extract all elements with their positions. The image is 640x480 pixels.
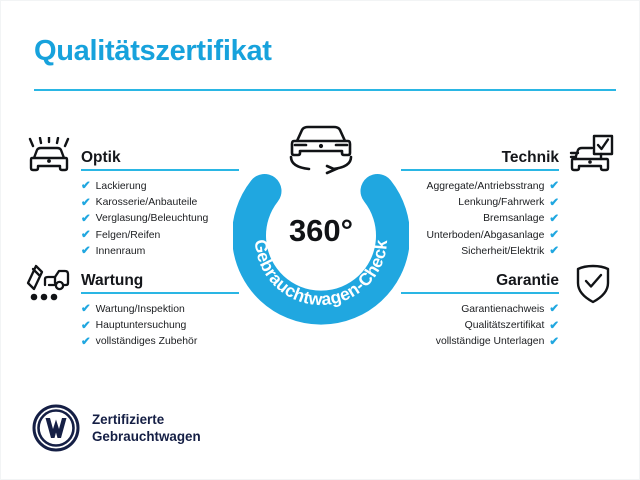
- list-item: ✔vollständiges Zubehör: [81, 334, 239, 350]
- check-icon: ✔: [81, 337, 91, 349]
- list-item: ✔Innenraum: [81, 244, 239, 260]
- section-divider: [401, 169, 559, 171]
- list-item-label: Garantienachweis: [461, 302, 544, 318]
- check-icon: ✔: [81, 198, 91, 210]
- section-wartung: Wartung ✔Wartung/Inspektion ✔Hauptunters…: [81, 264, 239, 351]
- list-item: Aggregate/Antriebsstrang✔: [401, 179, 559, 195]
- list-item-label: Lackierung: [96, 179, 147, 195]
- footer-line-1: Zertifizierte: [92, 411, 201, 428]
- list-item: Unterboden/Abgasanlage✔: [401, 228, 559, 244]
- list-item-label: vollständiges Zubehör: [96, 334, 198, 350]
- checklist-garantie: Garantienachweis✔ Qualitätszertifikat✔ v…: [401, 302, 559, 351]
- list-item: vollständige Unterlagen✔: [401, 334, 559, 350]
- list-item: Qualitätszertifikat✔: [401, 318, 559, 334]
- section-garantie: Garantie Garantienachweis✔ Qualitätszert…: [401, 264, 559, 351]
- check-icon: ✔: [549, 246, 559, 258]
- page-title: Qualitätszertifikat: [34, 35, 272, 68]
- section-header: Garantie: [401, 264, 559, 294]
- section-optik: Optik ✔Lackierung ✔Karosserie/Anbauteile…: [81, 141, 239, 260]
- check-icon: ✔: [81, 230, 91, 242]
- car-rotate-icon: [279, 119, 363, 175]
- list-item-label: Hauptuntersuchung: [96, 318, 187, 334]
- list-item: ✔Lackierung: [81, 179, 239, 195]
- list-item-label: Innenraum: [96, 244, 146, 260]
- 360-check-badge: Gebrauchtwagen-Check 360°: [233, 151, 409, 327]
- footer-line-2: Gebrauchtwagen: [92, 428, 201, 445]
- list-item-label: Sicherheit/Elektrik: [461, 244, 544, 260]
- checklist-technik: Aggregate/Antriebsstrang✔ Lenkung/Fahrwe…: [401, 179, 559, 260]
- list-item: ✔Karosserie/Anbauteile: [81, 195, 239, 211]
- list-item-label: Karosserie/Anbauteile: [96, 195, 198, 211]
- section-divider: [401, 292, 559, 294]
- section-header: Optik: [81, 141, 239, 171]
- list-item: ✔Felgen/Reifen: [81, 228, 239, 244]
- list-item-label: Wartung/Inspektion: [96, 302, 185, 318]
- check-icon: ✔: [81, 214, 91, 226]
- list-item: Sicherheit/Elektrik✔: [401, 244, 559, 260]
- list-item-label: Lenkung/Fahrwerk: [458, 195, 544, 211]
- check-icon: ✔: [81, 246, 91, 258]
- checklist-optik: ✔Lackierung ✔Karosserie/Anbauteile ✔Verg…: [81, 179, 239, 260]
- section-title: Technik: [502, 149, 559, 167]
- check-icon: ✔: [549, 304, 559, 316]
- checklist-wartung: ✔Wartung/Inspektion ✔Hauptuntersuchung ✔…: [81, 302, 239, 351]
- check-icon: ✔: [81, 181, 91, 193]
- badge-degrees: 360°: [233, 213, 409, 249]
- car-wash-icon: [27, 137, 71, 182]
- list-item: ✔Hauptuntersuchung: [81, 318, 239, 334]
- volkswagen-logo: [32, 404, 80, 452]
- check-icon: ✔: [549, 230, 559, 242]
- check-icon: ✔: [549, 321, 559, 333]
- title-divider: [34, 89, 616, 91]
- check-icon: ✔: [81, 321, 91, 333]
- list-item-label: Felgen/Reifen: [96, 228, 161, 244]
- list-item-label: Verglasung/Beleuchtung: [96, 211, 209, 227]
- list-item: Lenkung/Fahrwerk✔: [401, 195, 559, 211]
- section-title: Wartung: [81, 272, 143, 290]
- section-title: Optik: [81, 149, 121, 167]
- check-icon: ✔: [549, 214, 559, 226]
- section-divider: [81, 169, 239, 171]
- check-icon: ✔: [549, 181, 559, 193]
- list-item: ✔Wartung/Inspektion: [81, 302, 239, 318]
- list-item-label: Unterboden/Abgasanlage: [427, 228, 545, 244]
- check-icon: ✔: [549, 198, 559, 210]
- list-item: Garantienachweis✔: [401, 302, 559, 318]
- check-icon: ✔: [81, 304, 91, 316]
- section-title: Garantie: [496, 272, 559, 290]
- footer-brand: Zertifizierte Gebrauchtwagen: [32, 404, 201, 452]
- section-technik: Technik Aggregate/Antriebsstrang✔ Lenkun…: [401, 141, 559, 260]
- list-item-label: vollständige Unterlagen: [436, 334, 545, 350]
- list-item-label: Qualitätszertifikat: [465, 318, 545, 334]
- section-divider: [81, 292, 239, 294]
- list-item-label: Bremsanlage: [483, 211, 544, 227]
- check-icon: ✔: [549, 337, 559, 349]
- list-item: Bremsanlage✔: [401, 211, 559, 227]
- shield-check-icon: [574, 263, 612, 310]
- section-header: Wartung: [81, 264, 239, 294]
- list-item-label: Aggregate/Antriebsstrang: [427, 179, 545, 195]
- list-item: ✔Verglasung/Beleuchtung: [81, 211, 239, 227]
- car-checkbox-icon: [568, 134, 614, 181]
- section-header: Technik: [401, 141, 559, 171]
- service-pen-car-icon: [25, 263, 71, 310]
- footer-text: Zertifizierte Gebrauchtwagen: [92, 411, 201, 445]
- certificate-page: Qualitätszertifikat: [0, 0, 640, 480]
